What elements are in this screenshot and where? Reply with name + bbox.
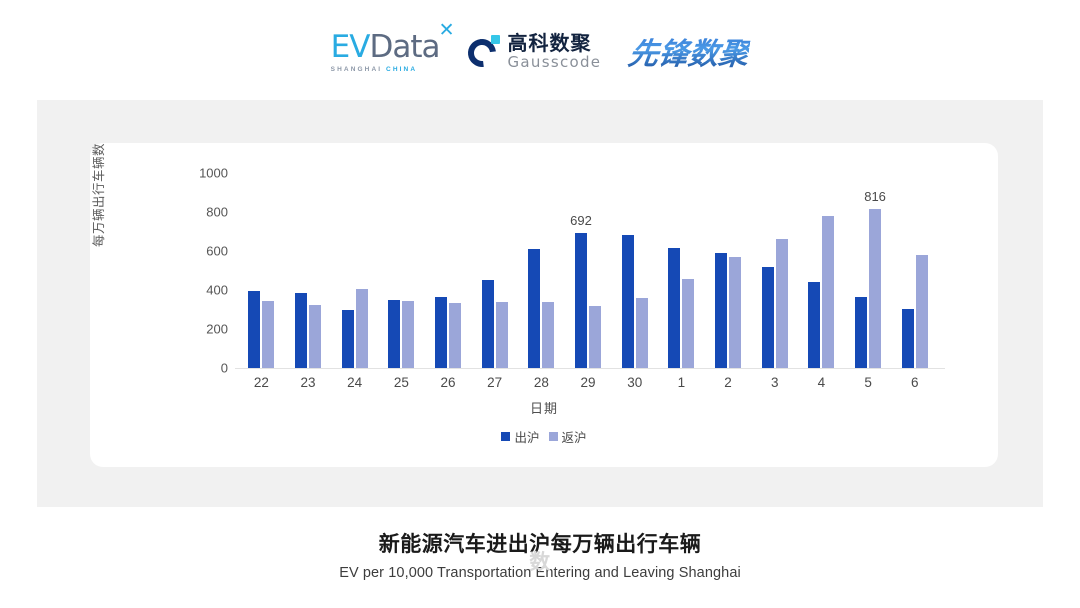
gausscode-cn-text: 高科数聚 [508, 33, 602, 53]
bar-return [776, 239, 788, 368]
gausscode-en-text: Gausscode [508, 55, 602, 70]
y-axis-tick-label: 200 [206, 322, 228, 337]
x-axis-tick-label: 30 [611, 375, 658, 390]
evdata-tagline-country: CHINA [386, 66, 417, 73]
bar-out [388, 300, 400, 368]
bar-group [751, 173, 798, 368]
legend-item[interactable]: 出沪 [501, 427, 539, 446]
bar-group [705, 173, 752, 368]
legend-swatch-icon [549, 432, 558, 441]
bar-group [331, 173, 378, 368]
bar-out [762, 267, 774, 368]
x-axis-tick-label: 24 [331, 375, 378, 390]
x-axis-tick-label: 5 [845, 375, 892, 390]
bar-out [295, 293, 307, 368]
evdata-tagline: SHANGHAI CHINA [331, 66, 417, 73]
x-axis-tick-label: 1 [658, 375, 705, 390]
bar-group [891, 173, 938, 368]
bar-group: 816 [845, 173, 892, 368]
y-axis-ticks: 10008006004002000 [188, 143, 228, 467]
evdata-wordmark: EV Data ✕ [331, 29, 440, 65]
bar-group [658, 173, 705, 368]
legend-label: 出沪 [514, 427, 539, 446]
bar-out [248, 291, 260, 368]
bar-value-label: 692 [570, 213, 592, 228]
bar-out [808, 282, 820, 368]
bar-group [798, 173, 845, 368]
slide-page: EV Data ✕ SHANGHAI CHINA 高科数聚 Gausscode … [0, 0, 1080, 608]
bar-return [729, 257, 741, 368]
caption-title-cn: 新能源汽车进出沪每万辆出行车辆 [0, 528, 1080, 558]
y-axis-tick-label: 1000 [199, 166, 228, 181]
x-axis-tick-label: 27 [471, 375, 518, 390]
bar-group [425, 173, 472, 368]
bar-return [402, 301, 414, 368]
bar-group [238, 173, 285, 368]
x-axis-ticks: 222324252627282930123456 [238, 375, 938, 390]
chart-card: 每万辆出行车辆数 10008006004002000 692816 222324… [90, 143, 998, 467]
x-axis-tick-label: 29 [565, 375, 612, 390]
y-axis-tick-label: 400 [206, 283, 228, 298]
bar-return [309, 305, 321, 368]
evdata-ev-text: EV [331, 29, 370, 65]
x-axis-tick-label: 6 [891, 375, 938, 390]
bar-out [622, 235, 634, 368]
x-axis-tick-label: 26 [425, 375, 472, 390]
bar-out [715, 253, 727, 368]
bar-return [496, 302, 508, 368]
y-axis-tick-label: 0 [221, 361, 228, 376]
bar-group [285, 173, 332, 368]
bar-return [682, 279, 694, 368]
bar-out: 692 [575, 233, 587, 368]
bar-group [378, 173, 425, 368]
y-axis-tick-label: 800 [206, 205, 228, 220]
plot-area: 692816 [238, 173, 938, 368]
y-axis-tick-label: 600 [206, 244, 228, 259]
bar-out [482, 280, 494, 368]
bar-out [855, 297, 867, 368]
bar-return [822, 216, 834, 368]
bar-out [342, 310, 354, 368]
bar-out [435, 297, 447, 368]
y-axis-title: 每万辆出行车辆数 [88, 143, 107, 247]
x-axis-tick-label: 3 [751, 375, 798, 390]
bar-out [668, 248, 680, 368]
bar-return [262, 301, 274, 368]
bar-group [471, 173, 518, 368]
x-axis-tick-label: 4 [798, 375, 845, 390]
bar-return: 816 [869, 209, 881, 368]
legend-label: 返沪 [562, 427, 587, 446]
bar-group: 692 [565, 173, 612, 368]
bar-return [916, 255, 928, 368]
evdata-x-icon: ✕ [439, 19, 455, 42]
evdata-tagline-city: SHANGHAI [331, 66, 386, 73]
gausscode-logo: 高科数聚 Gausscode [468, 33, 602, 70]
bar-groups: 692816 [238, 173, 938, 368]
gausscode-wordmark: 高科数聚 Gausscode [508, 33, 602, 70]
x-axis-tick-label: 2 [705, 375, 752, 390]
chart-legend: 出沪返沪 [90, 427, 998, 446]
x-axis-tick-label: 25 [378, 375, 425, 390]
logo-bar: EV Data ✕ SHANGHAI CHINA 高科数聚 Gausscode … [0, 22, 1080, 80]
bar-return [356, 289, 368, 368]
xianfeng-logo: 先锋数聚 [626, 29, 752, 73]
x-axis-line [235, 368, 945, 369]
bar-chart: 每万辆出行车辆数 10008006004002000 692816 222324… [90, 143, 998, 467]
legend-swatch-icon [501, 432, 510, 441]
bar-return [636, 298, 648, 368]
evdata-logo: EV Data ✕ SHANGHAI CHINA [331, 29, 440, 73]
x-axis-title: 日期 [90, 398, 998, 417]
caption-block: 数 新能源汽车进出沪每万辆出行车辆 EV per 10,000 Transpor… [0, 528, 1080, 581]
x-axis-tick-label: 22 [238, 375, 285, 390]
x-axis-tick-label: 28 [518, 375, 565, 390]
bar-out [528, 249, 540, 368]
bar-return [589, 306, 601, 368]
legend-item[interactable]: 返沪 [549, 427, 587, 446]
x-axis-tick-label: 23 [285, 375, 332, 390]
bar-return [449, 303, 461, 368]
bar-out [902, 309, 914, 368]
caption-subtitle-en: EV per 10,000 Transportation Entering an… [0, 565, 1080, 581]
bar-return [542, 302, 554, 368]
evdata-data-text: Data [369, 29, 439, 65]
bar-group [518, 173, 565, 368]
bar-group [611, 173, 658, 368]
gausscode-mark-icon [468, 35, 501, 68]
bar-value-label: 816 [864, 189, 886, 204]
